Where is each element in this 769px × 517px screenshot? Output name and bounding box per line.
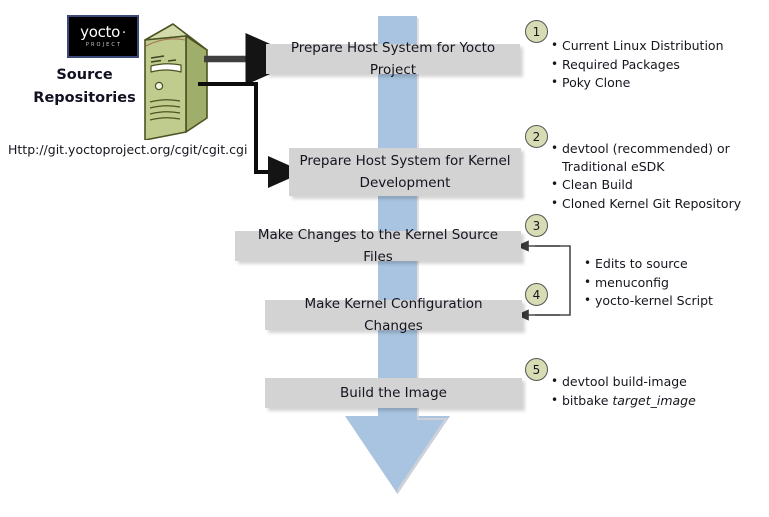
list-item: Edits to source [583, 255, 763, 273]
step-1-notes: Current Linux Distribution Required Pack… [550, 37, 765, 93]
step-2-notes: devtool (recommended) or Traditional eSD… [550, 140, 768, 213]
step-badge-4: 4 [525, 283, 548, 306]
list-item: Cloned Kernel Git Repository [550, 195, 768, 213]
steps-3-4-shared-notes: Edits to source menuconfig yocto-kernel … [583, 255, 763, 311]
list-item: Clean Build [550, 176, 768, 194]
step-badge-2: 2 [525, 125, 548, 148]
list-item: devtool build-image [550, 373, 765, 391]
list-item: devtool (recommended) or Traditional eSD… [550, 140, 768, 175]
box-2-line2: Development [299, 172, 510, 194]
list-item: bitbake target_image [550, 392, 765, 410]
process-box-build-image[interactable]: Build the Image [265, 378, 522, 408]
list-item: Current Linux Distribution [550, 37, 765, 55]
step-badge-5: 5 [525, 358, 548, 381]
diagram-canvas: yocto· PROJECT Source Repositories Http:… [0, 0, 769, 517]
step-5-notes: devtool build-image bitbake target_image [550, 373, 765, 410]
list-item: yocto-kernel Script [583, 292, 763, 310]
process-box-make-source-changes[interactable]: Make Changes to the Kernel Source Files [235, 231, 521, 261]
list-item: menuconfig [583, 274, 763, 292]
list-item: Poky Clone [550, 74, 765, 92]
step-badge-1: 1 [525, 20, 548, 43]
process-box-prepare-host-kernel[interactable]: Prepare Host System for Kernel Developme… [289, 148, 521, 196]
list-item: Required Packages [550, 56, 765, 74]
process-box-prepare-host-yocto[interactable]: Prepare Host System for Yocto Project [266, 44, 520, 74]
step-badge-3: 3 [525, 214, 548, 237]
command-text: bitbake [562, 393, 612, 408]
box-2-line1: Prepare Host System for Kernel [299, 150, 510, 172]
process-box-make-config-changes[interactable]: Make Kernel Configuration Changes [265, 300, 522, 330]
command-argument: target_image [612, 393, 695, 408]
